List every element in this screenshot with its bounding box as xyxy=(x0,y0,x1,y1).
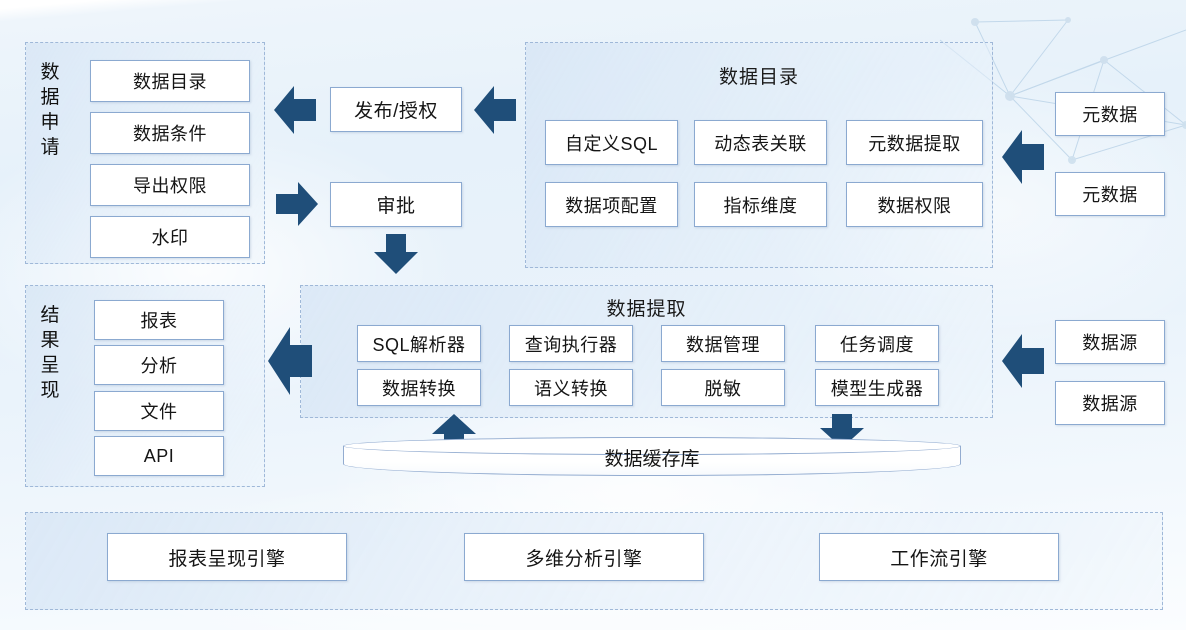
metadata-box-2[interactable]: 元数据 xyxy=(1055,172,1165,216)
extraction-item-4[interactable]: 任务调度 xyxy=(815,325,939,362)
data-cache-store[interactable]: 数据缓存库 xyxy=(343,437,961,477)
datasource-box-2[interactable]: 数据源 xyxy=(1055,381,1165,425)
cache-label: 数据缓存库 xyxy=(343,437,961,477)
catalog-item-5[interactable]: 指标维度 xyxy=(694,182,827,227)
arrow-extraction-to-result xyxy=(268,325,312,397)
catalog-item-2[interactable]: 动态表关联 xyxy=(694,120,827,165)
catalog-item-3[interactable]: 元数据提取 xyxy=(846,120,983,165)
data-request-item-4[interactable]: 水印 xyxy=(90,216,250,258)
extraction-item-5[interactable]: 数据转换 xyxy=(357,369,481,406)
extraction-item-7[interactable]: 脱敏 xyxy=(661,369,785,406)
extraction-item-1[interactable]: SQL解析器 xyxy=(357,325,481,362)
metadata-box-1[interactable]: 元数据 xyxy=(1055,92,1165,136)
data-request-item-1[interactable]: 数据目录 xyxy=(90,60,250,102)
catalog-item-4[interactable]: 数据项配置 xyxy=(545,182,678,227)
data-request-item-2[interactable]: 数据条件 xyxy=(90,112,250,154)
extraction-item-2[interactable]: 查询执行器 xyxy=(509,325,633,362)
datasource-box-1[interactable]: 数据源 xyxy=(1055,320,1165,364)
engine-item-3[interactable]: 工作流引擎 xyxy=(819,533,1059,581)
data-request-caption: 数据申请 xyxy=(33,60,67,160)
arrow-approval-down xyxy=(372,234,420,274)
result-item-3[interactable]: 文件 xyxy=(94,391,224,431)
diagram-canvas: 数据申请 数据目录 数据条件 导出权限 水印 结果呈现 报表 分析 文件 API… xyxy=(0,0,1186,630)
extraction-item-8[interactable]: 模型生成器 xyxy=(815,369,939,406)
arrow-approval-out xyxy=(276,180,318,228)
approval-box[interactable]: 审批 xyxy=(330,182,462,227)
result-item-1[interactable]: 报表 xyxy=(94,300,224,340)
arrow-publish-to-request xyxy=(274,84,316,136)
data-extraction-title: 数据提取 xyxy=(300,294,993,321)
engine-item-1[interactable]: 报表呈现引擎 xyxy=(107,533,347,581)
extraction-item-3[interactable]: 数据管理 xyxy=(661,325,785,362)
arrow-catalog-to-publish xyxy=(474,84,516,136)
engine-item-2[interactable]: 多维分析引擎 xyxy=(464,533,704,581)
data-request-item-3[interactable]: 导出权限 xyxy=(90,164,250,206)
data-catalog-title: 数据目录 xyxy=(525,62,993,89)
result-item-2[interactable]: 分析 xyxy=(94,345,224,385)
result-presentation-caption: 结果呈现 xyxy=(33,303,67,403)
arrow-metadata-in xyxy=(1002,126,1044,188)
extraction-item-6[interactable]: 语义转换 xyxy=(509,369,633,406)
arrow-datasource-in xyxy=(1002,330,1044,392)
publish-authorize-box[interactable]: 发布/授权 xyxy=(330,87,462,132)
catalog-item-1[interactable]: 自定义SQL xyxy=(545,120,678,165)
result-item-4[interactable]: API xyxy=(94,436,224,476)
catalog-item-6[interactable]: 数据权限 xyxy=(846,182,983,227)
